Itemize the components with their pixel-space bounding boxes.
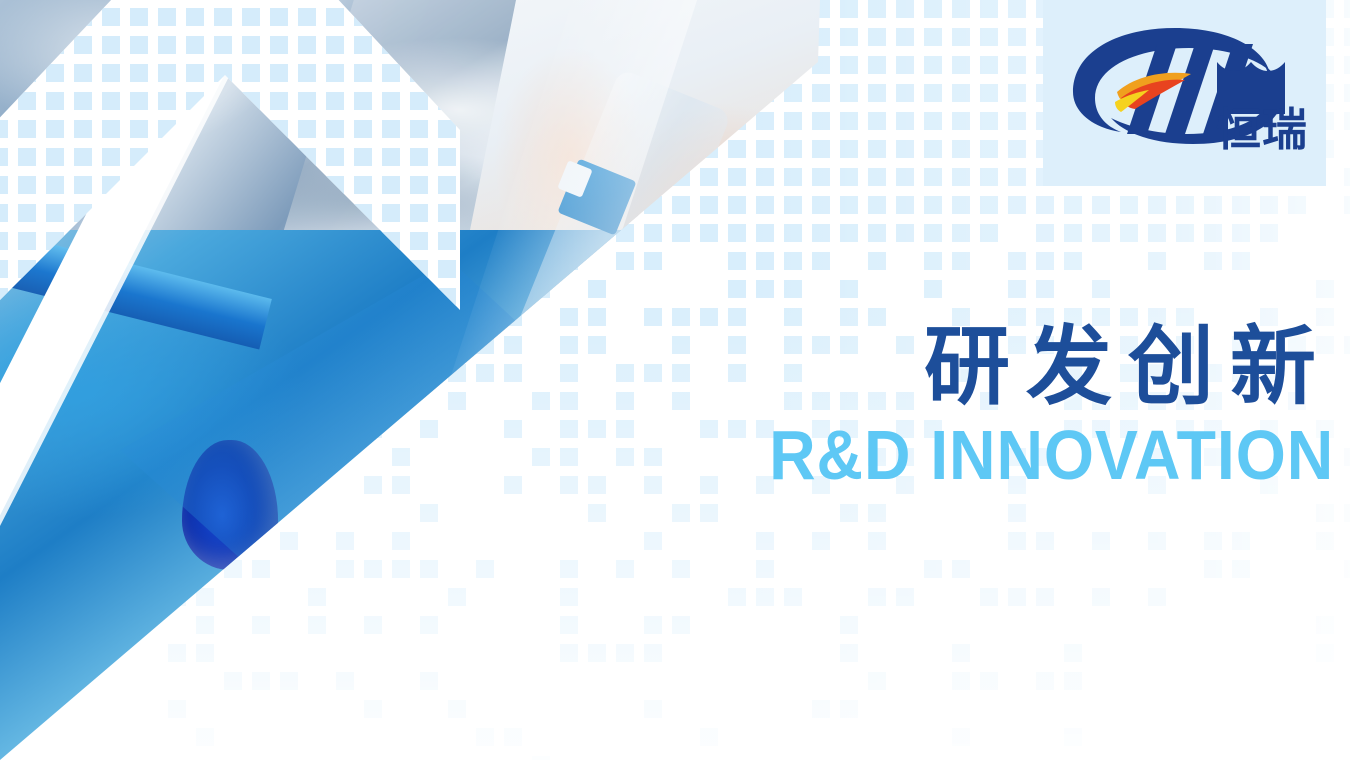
rd-innovation-banner: 恒瑞 研发创新 R&D INNOVATION (0, 0, 1350, 760)
logo-company-name: 恒瑞 (1216, 107, 1308, 152)
headline-block: 研发创新 R&D INNOVATION (720, 322, 1334, 490)
headline-english-subtitle: R&D INNOVATION (769, 420, 1334, 490)
logo-inner (1043, 0, 1326, 186)
company-logo-plate: 恒瑞 (1043, 0, 1326, 186)
headline-chinese-title: 研发创新 (720, 322, 1334, 412)
